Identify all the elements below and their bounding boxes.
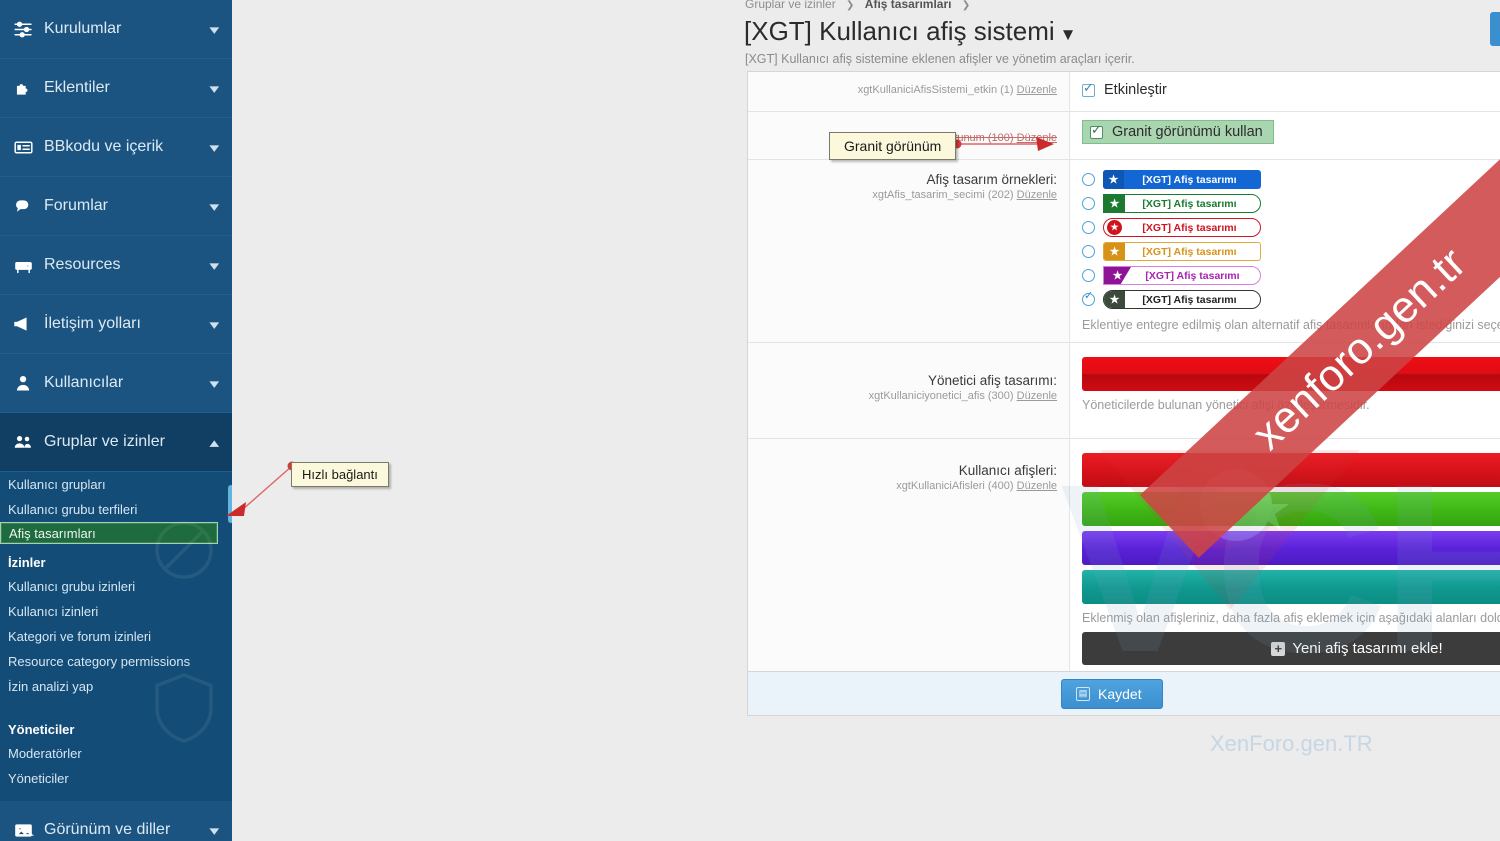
- banner-sample-preview[interactable]: ★[XGT] Afiş tasarımı: [1103, 242, 1261, 261]
- sidebar-group-forumlar[interactable]: Forumlar▾: [0, 177, 232, 236]
- puzzle-icon: [12, 78, 34, 98]
- megaphone-icon: [12, 314, 34, 334]
- setting-label-enable: xgtKullaniciAfisSistemi_etkin (1) Düzenl…: [748, 72, 1070, 111]
- edit-link-admin-banner[interactable]: Düzenle: [1017, 390, 1057, 402]
- banner-sample-radio[interactable]: [1082, 245, 1095, 258]
- sidebar-item-kullan-c-izinleri[interactable]: Kullanıcı izinleri: [0, 599, 232, 624]
- setting-row-samples: Afiş tasarım örnekleri: xgtAfis_tasarim_…: [748, 160, 1500, 343]
- sidebar-group-label: Eklentiler: [44, 79, 211, 97]
- sidebar-group-label: Kullanıcılar: [44, 374, 211, 392]
- breadcrumb-sep-1: ❯: [962, 0, 970, 11]
- setting-key-admin-banner: xgtKullaniciyonetici_afis (300) Düzenle: [748, 390, 1057, 402]
- page-title-caret-icon[interactable]: ▼: [1060, 25, 1077, 44]
- banner-sample-option[interactable]: ★[XGT] Afiş tasarımı: [1082, 266, 1500, 285]
- banner-sample-preview[interactable]: ★[XGT] Afiş tasarımı: [1103, 194, 1261, 213]
- chevron-down-icon[interactable]: ▾: [210, 377, 220, 390]
- breadcrumb-sep-0: ❯: [846, 0, 854, 11]
- sidebar-item-resource-category-permissions[interactable]: Resource category permissions: [0, 649, 232, 674]
- setting-row-admin-banner: Yönetici afiş tasarımı: xgtKullaniciyone…: [748, 343, 1500, 439]
- sidebar-group-label: İletişim yolları: [44, 315, 211, 333]
- setting-field-enable: Etkinleştir: [1070, 72, 1500, 111]
- badge-icon: ★: [1104, 267, 1131, 284]
- setting-field-samples: ★[XGT] Afiş tasarımı★[XGT] Afiş tasarımı…: [1070, 160, 1500, 342]
- banner-sample-radio[interactable]: [1082, 173, 1095, 186]
- sidebar-group-label: Forumlar: [44, 197, 211, 215]
- banner-sample-label: [XGT] Afiş tasarımı: [1125, 246, 1260, 258]
- granite-checkbox[interactable]: [1090, 126, 1103, 139]
- admin-sidebar: Kurulumlar▾Eklentiler▾BBkodu ve içerik▾F…: [0, 0, 232, 841]
- banner-sample-radio[interactable]: [1082, 269, 1095, 282]
- sidebar-item-kullan-c-grubu-izinleri[interactable]: Kullanıcı grubu izinleri: [0, 574, 232, 599]
- main-content: Gruplar ve izinler ❯ Afiş tasarımları ❯ …: [232, 0, 1500, 841]
- sidebar-item-afi-tasar-mlar[interactable]: Afiş tasarımları: [0, 522, 218, 544]
- sidebar-group-label: BBkodu ve içerik: [44, 138, 211, 156]
- sidebar-item-i-zin-analizi-yap[interactable]: İzin analizi yap: [0, 674, 232, 699]
- setting-field-granite: Granit görünümü kullan: [1070, 112, 1500, 159]
- add-banner-button-label: Yeni afiş tasarımı ekle!: [1292, 640, 1442, 657]
- users-icon: [12, 432, 34, 452]
- page-title: [XGT] Kullanıcı afiş sistemi▼: [744, 16, 1076, 47]
- subnav-heading-i-zinler: İzinler: [0, 544, 232, 574]
- granite-look-callout-text: Granit görünüm: [844, 138, 941, 154]
- banner-sample-preview[interactable]: ★[XGT] Afiş tasarımı: [1103, 290, 1261, 309]
- page-title-text: [XGT] Kullanıcı afiş sistemi: [744, 16, 1055, 46]
- banner-sample-option[interactable]: ★[XGT] Afiş tasarımı: [1082, 194, 1500, 213]
- bbcode-icon: [12, 137, 34, 157]
- admin-banner-help-text: Yöneticilerde bulunan yönetici afişi öze…: [1082, 398, 1500, 412]
- edit-link-user-banners[interactable]: Düzenle: [1017, 480, 1057, 492]
- granite-checkbox-row[interactable]: Granit görünümü kullan: [1082, 120, 1274, 144]
- banner-sample-option[interactable]: ★[XGT] Afiş tasarımı: [1082, 218, 1500, 237]
- user-banner-green[interactable]: [1082, 492, 1500, 526]
- sidebar-group-label: Resources: [44, 256, 211, 274]
- setting-key-samples: xgtAfis_tasarim_secimi (202) Düzenle: [748, 189, 1057, 201]
- admin-banner-preview[interactable]: Yö: [1082, 357, 1500, 391]
- user-banners-help-text: Eklenmiş olan afişleriniz, daha fazla af…: [1082, 611, 1500, 625]
- chevron-down-icon[interactable]: ▾: [210, 23, 220, 36]
- save-button-label: Kaydet: [1098, 686, 1142, 702]
- user-banner-teal[interactable]: [1082, 570, 1500, 604]
- banner-sample-preview[interactable]: ★[XGT] Afiş tasarımı: [1103, 218, 1261, 237]
- enable-checkbox[interactable]: [1082, 84, 1095, 97]
- banner-sample-radio[interactable]: [1082, 293, 1095, 306]
- banner-sample-label: [XGT] Afiş tasarımı: [1124, 174, 1261, 186]
- sidebar-group-label: Kurulumlar: [44, 20, 211, 38]
- sidebar-group-gorunum-ve-diller[interactable]: Görünüm ve diller▾: [0, 801, 232, 841]
- banner-sample-option[interactable]: ★[XGT] Afiş tasarımı: [1082, 290, 1500, 309]
- screen: Kurulumlar▾Eklentiler▾BBkodu ve içerik▾F…: [0, 0, 1500, 841]
- sidebar-item-kullan-c-gruplar[interactable]: Kullanıcı grupları: [0, 472, 232, 497]
- setting-key-text-enable: xgtKullaniciAfisSistemi_etkin (1): [858, 84, 1014, 96]
- quick-link-callout: Hızlı bağlantı: [291, 462, 389, 487]
- granite-look-callout: Granit görünüm: [829, 132, 956, 160]
- setting-title-samples: Afiş tasarım örnekleri:: [748, 172, 1057, 187]
- banner-sample-label: [XGT] Afiş tasarımı: [1125, 294, 1260, 306]
- granite-checkbox-label: Granit görünümü kullan: [1112, 124, 1263, 140]
- setting-field-admin-banner: Yö Yöneticilerde bulunan yönetici afişi …: [1070, 343, 1500, 438]
- badge-icon: ★: [1104, 195, 1125, 212]
- user-banner-purple[interactable]: [1082, 531, 1500, 565]
- banner-sample-option[interactable]: ★[XGT] Afiş tasarımı: [1082, 170, 1500, 189]
- setting-key-text-user-banners: xgtKullaniciAfisleri (400): [896, 480, 1013, 492]
- enable-checkbox-row[interactable]: Etkinleştir: [1082, 82, 1500, 98]
- breadcrumb: Gruplar ve izinler ❯ Afiş tasarımları ❯: [745, 0, 977, 11]
- chevron-down-icon[interactable]: ▾: [210, 259, 220, 272]
- setting-title-user-banners: Kullanıcı afişleri:: [748, 463, 1057, 478]
- setting-key-user-banners: xgtKullaniciAfisleri (400) Düzenle: [748, 480, 1057, 492]
- save-bar: ▤ Kaydet: [748, 671, 1500, 715]
- setting-key-text-admin-banner: xgtKullaniciyonetici_afis (300): [869, 390, 1014, 402]
- samples-help-text: Eklentiye entegre edilmiş olan alternati…: [1082, 318, 1500, 332]
- sidebar-group-resources[interactable]: Resources▾: [0, 236, 232, 295]
- chevron-down-icon[interactable]: ▾: [210, 82, 220, 95]
- sidebar-group-eklentiler[interactable]: Eklentiler▾: [0, 59, 232, 118]
- banner-sample-label: [XGT] Afiş tasarımı: [1125, 222, 1260, 234]
- chevron-up-icon[interactable]: ▴: [210, 436, 220, 449]
- user-banner-list: [1082, 453, 1500, 604]
- save-button[interactable]: ▤ Kaydet: [1061, 679, 1163, 709]
- banner-sample-preview[interactable]: ★[XGT] Afiş tasarımı: [1103, 266, 1261, 285]
- banner-sample-option[interactable]: ★[XGT] Afiş tasarımı: [1082, 242, 1500, 261]
- setting-field-user-banners: Eklenmiş olan afişleriniz, daha fazla af…: [1070, 439, 1500, 675]
- setting-label-admin-banner: Yönetici afiş tasarımı: xgtKullaniciyone…: [748, 343, 1070, 438]
- subnav-spacer: [0, 699, 232, 711]
- setting-title-admin-banner: Yönetici afiş tasarımı:: [748, 373, 1057, 388]
- setting-key-enable: xgtKullaniciAfisSistemi_etkin (1) Düzenl…: [748, 84, 1057, 96]
- sidebar-group-bbkodu-ve-i-erik[interactable]: BBkodu ve içerik▾: [0, 118, 232, 177]
- banner-sample-preview[interactable]: ★[XGT] Afiş tasarımı: [1103, 170, 1261, 189]
- plus-icon: +: [1271, 642, 1285, 656]
- image-icon: [12, 820, 34, 840]
- sidebar-item-y-neticiler[interactable]: Yöneticiler: [0, 766, 232, 791]
- page-description: [XGT] Kullanıcı afiş sistemine eklenen a…: [745, 52, 1135, 66]
- badge-icon: ★: [1104, 291, 1125, 308]
- breadcrumb-item-1[interactable]: Afiş tasarımları: [865, 0, 952, 11]
- badge-icon: ★: [1104, 219, 1125, 236]
- chevron-down-icon[interactable]: ▾: [210, 824, 220, 837]
- sidebar-group-label: Gruplar ve izinler: [44, 433, 211, 451]
- user-icon: [12, 373, 34, 393]
- sliders-icon: [12, 19, 34, 39]
- right-edge-button[interactable]: [1490, 12, 1500, 46]
- sidebar-item-kullan-c-grubu-terfileri[interactable]: Kullanıcı grubu terfileri: [0, 497, 232, 522]
- badge-icon: ★: [1103, 170, 1124, 189]
- comments-icon: [12, 196, 34, 216]
- sidebar-group-kurulumlar[interactable]: Kurulumlar▾: [0, 0, 232, 59]
- subnav-heading-y-neticiler: Yöneticiler: [0, 711, 232, 741]
- sidebar-group-i-leti-im-yollar[interactable]: İletişim yolları▾: [0, 295, 232, 354]
- banner-sample-list: ★[XGT] Afiş tasarımı★[XGT] Afiş tasarımı…: [1082, 170, 1500, 309]
- enable-checkbox-label: Etkinleştir: [1104, 82, 1167, 98]
- badge-icon: ★: [1107, 220, 1122, 235]
- quick-link-callout-text: Hızlı bağlantı: [302, 467, 378, 482]
- chevron-down-icon[interactable]: ▾: [210, 200, 220, 213]
- setting-label-samples: Afiş tasarım örnekleri: xgtAfis_tasarim_…: [748, 160, 1070, 342]
- sidebar-item-moderat-rler[interactable]: Moderatörler: [0, 741, 232, 766]
- sidebar-subnav: Kullanıcı gruplarıKullanıcı grubu terfil…: [0, 472, 232, 801]
- breadcrumb-item-0[interactable]: Gruplar ve izinler: [745, 0, 836, 11]
- resources-icon: [12, 255, 34, 275]
- setting-row-user-banners: Kullanıcı afişleri: xgtKullaniciAfisleri…: [748, 439, 1500, 675]
- edit-link-enable[interactable]: Düzenle: [1017, 84, 1057, 96]
- setting-row-enable: xgtKullaniciAfisSistemi_etkin (1) Düzenl…: [748, 72, 1500, 112]
- user-banner-red[interactable]: [1082, 453, 1500, 487]
- chevron-down-icon[interactable]: ▾: [210, 141, 220, 154]
- banner-sample-radio[interactable]: [1082, 221, 1095, 234]
- sidebar-group-kullan-c-lar[interactable]: Kullanıcılar▾: [0, 354, 232, 413]
- banner-sample-label: [XGT] Afiş tasarımı: [1125, 198, 1260, 210]
- sidebar-group-gruplar-ve-izinler[interactable]: Gruplar ve izinler▴: [0, 413, 232, 472]
- setting-label-user-banners: Kullanıcı afişleri: xgtKullaniciAfisleri…: [748, 439, 1070, 675]
- chevron-down-icon[interactable]: ▾: [210, 318, 220, 331]
- edit-link-granite[interactable]: Düzenle: [1017, 132, 1057, 144]
- settings-panel: xgtKullaniciAfisSistemi_etkin (1) Düzenl…: [747, 71, 1500, 716]
- badge-icon: ★: [1104, 243, 1125, 260]
- add-banner-button[interactable]: + Yeni afiş tasarımı ekle!: [1082, 632, 1500, 665]
- edit-link-samples[interactable]: Düzenle: [1017, 189, 1057, 201]
- banner-sample-label: [XGT] Afiş tasarımı: [1131, 270, 1260, 282]
- banner-sample-radio[interactable]: [1082, 197, 1095, 210]
- sidebar-group-label: Görünüm ve diller: [44, 821, 211, 839]
- save-icon: ▤: [1076, 687, 1090, 701]
- sidebar-item-kategori-ve-forum-izinleri[interactable]: Kategori ve forum izinleri: [0, 624, 232, 649]
- setting-key-text-samples: xgtAfis_tasarim_secimi (202): [872, 189, 1013, 201]
